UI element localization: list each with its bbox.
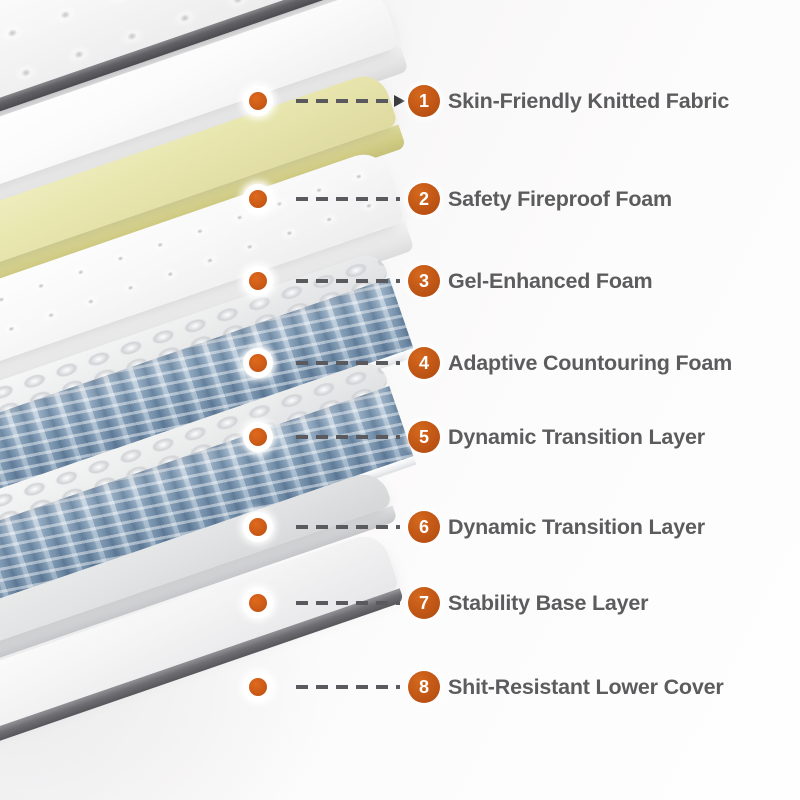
callout-marker-dot-6 [243, 512, 273, 542]
callout-6: 6Dynamic Transition Layer [0, 507, 800, 547]
callout-marker-dot-3 [243, 266, 273, 296]
callout-number-badge-2: 2 [408, 183, 440, 215]
callout-marker-dot-2 [243, 184, 273, 214]
callout-label-2: Safety Fireproof Foam [448, 187, 672, 212]
callout-number-badge-1: 1 [408, 85, 440, 117]
callout-marker-dot-5 [243, 422, 273, 452]
callout-label-4: Adaptive Countouring Foam [448, 351, 732, 376]
leader-line-3 [296, 279, 400, 283]
mattress-layer-diagram: 1Skin-Friendly Knitted Fabric2Safety Fir… [0, 0, 800, 800]
leader-line-8 [296, 685, 400, 689]
callout-label-5: Dynamic Transition Layer [448, 425, 705, 450]
leader-line-6 [296, 525, 400, 529]
callout-7: 7Stability Base Layer [0, 583, 800, 623]
leader-line-2 [296, 197, 400, 201]
leader-line-4 [296, 361, 400, 365]
callout-2: 2Safety Fireproof Foam [0, 179, 800, 219]
callout-label-1: Skin-Friendly Knitted Fabric [448, 89, 729, 114]
callout-marker-dot-8 [243, 672, 273, 702]
callout-label-6: Dynamic Transition Layer [448, 515, 705, 540]
callout-marker-dot-7 [243, 588, 273, 618]
callout-number-badge-6: 6 [408, 511, 440, 543]
callout-5: 5Dynamic Transition Layer [0, 417, 800, 457]
callout-8: 8Shit-Resistant Lower Cover [0, 667, 800, 707]
callout-number-badge-5: 5 [408, 421, 440, 453]
callout-marker-dot-4 [243, 348, 273, 378]
leader-line-7 [296, 601, 400, 605]
leader-line-5 [296, 435, 400, 439]
callout-label-7: Stability Base Layer [448, 591, 648, 616]
callout-list: 1Skin-Friendly Knitted Fabric2Safety Fir… [0, 0, 800, 800]
callout-number-badge-3: 3 [408, 265, 440, 297]
callout-1: 1Skin-Friendly Knitted Fabric [0, 81, 800, 121]
callout-number-badge-7: 7 [408, 587, 440, 619]
callout-4: 4Adaptive Countouring Foam [0, 343, 800, 383]
leader-arrowhead-1 [394, 95, 405, 107]
callout-label-8: Shit-Resistant Lower Cover [448, 675, 724, 700]
callout-number-badge-4: 4 [408, 347, 440, 379]
callout-marker-dot-1 [243, 86, 273, 116]
callout-label-3: Gel-Enhanced Foam [448, 269, 652, 294]
callout-number-badge-8: 8 [408, 671, 440, 703]
callout-3: 3Gel-Enhanced Foam [0, 261, 800, 301]
leader-line-1 [296, 99, 396, 103]
